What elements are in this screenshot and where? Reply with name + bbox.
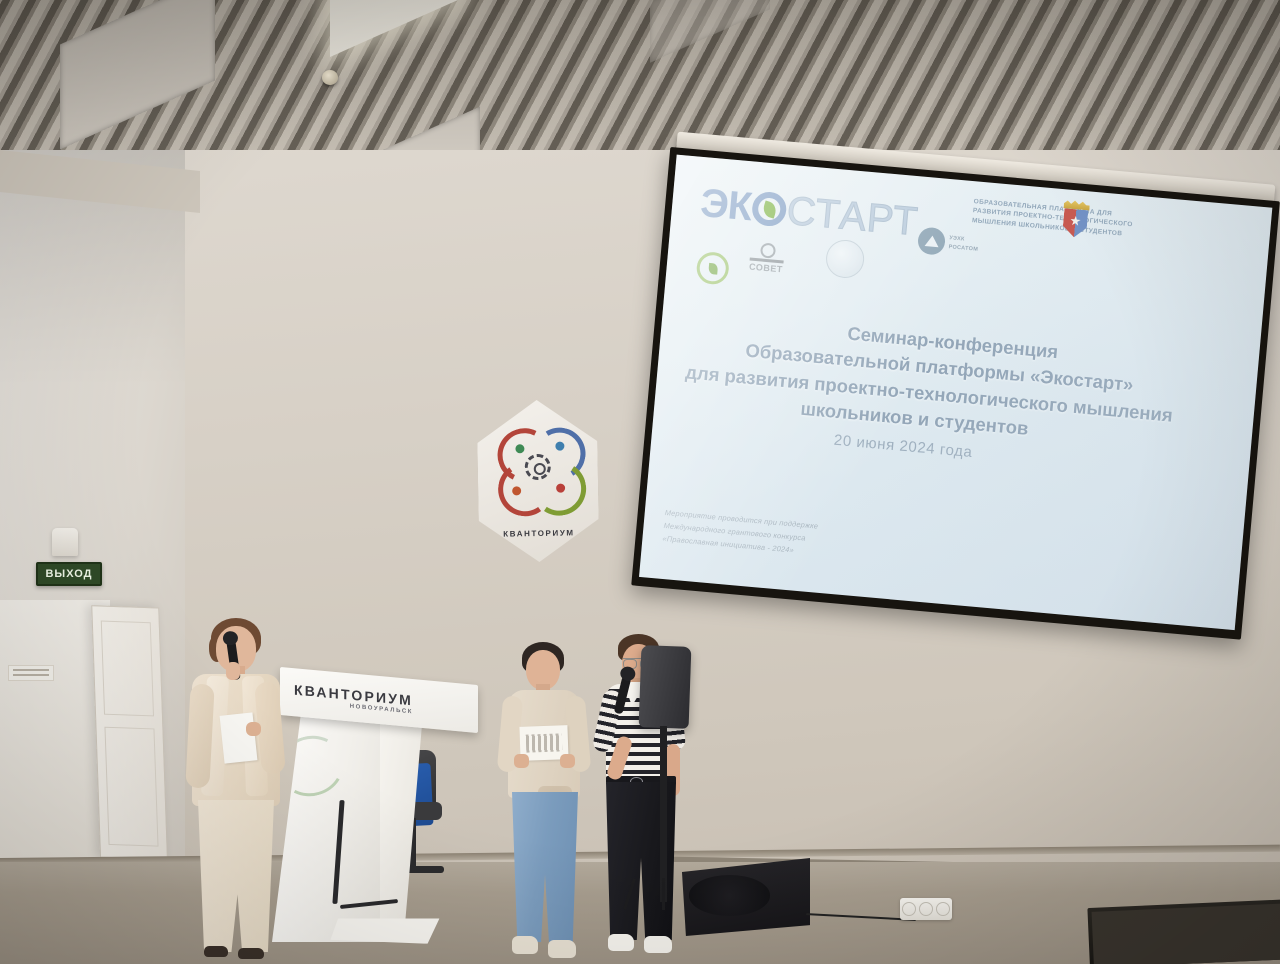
coat-of-arms-icon: ★ — [1059, 199, 1092, 240]
eco-ring-logo-icon — [695, 251, 730, 286]
ceiling-light-panel — [330, 0, 460, 57]
door[interactable] — [91, 605, 168, 860]
display-panel — [1087, 899, 1280, 964]
slide-footer: Мероприятие проводится при поддержке Меж… — [662, 507, 819, 559]
ekostart-logo: Э К СТАРТ — [699, 183, 920, 242]
screen-frame: Э К СТАРТ ОБРАЗОВАТЕЛЬНАЯ ПЛАТФОРМА ДЛЯ … — [631, 147, 1280, 640]
eko-wordmark: Э К — [699, 183, 789, 231]
sovet-logo-icon: СОВЕТ — [749, 242, 786, 275]
ceiling-panel — [650, 0, 770, 63]
smoke-detector-icon — [322, 70, 338, 85]
jeans — [512, 792, 578, 942]
eko-letter-e: Э — [699, 183, 730, 225]
kvantorium-emblem-icon — [495, 425, 580, 508]
kvantorium-sign-label: КВАНТОРИУМ — [479, 528, 599, 539]
projector-screen: Э К СТАРТ ОБРАЗОВАТЕЛЬНАЯ ПЛАТФОРМА ДЛЯ … — [616, 128, 1280, 682]
presentation-slide: Э К СТАРТ ОБРАЗОВАТЕЛЬНАЯ ПЛАТФОРМА ДЛЯ … — [639, 155, 1272, 630]
exit-sign-label: ВЫХОД — [45, 568, 92, 580]
pa-speaker — [639, 645, 692, 729]
wall-notice — [8, 665, 54, 681]
eko-letter-k: К — [726, 185, 753, 227]
globe-logo-icon — [824, 238, 865, 279]
lectern-side-fin — [380, 720, 422, 942]
start-wordmark: СТАРТ — [785, 191, 920, 243]
slide-date: 20 июня 2024 года — [833, 432, 973, 461]
exit-sign: ВЫХОД — [36, 562, 102, 586]
emergency-lamp — [52, 528, 78, 556]
partner-logo-row: СОВЕТ УЭХКРОСАТОМ — [696, 235, 1118, 318]
leaf-in-o-icon — [751, 191, 788, 228]
wall-socket[interactable] — [900, 898, 952, 920]
kvantorium-wall-sign: КВАНТОРИУМ — [477, 399, 600, 563]
ceiling-panel — [60, 0, 215, 150]
handheld-papers — [220, 712, 258, 763]
door-panel-upper — [101, 621, 154, 717]
presenter-middle — [498, 640, 593, 964]
conference-hall-photo: ВЫХОД КВАНТОРИУМ Э К — [0, 0, 1280, 964]
rosatom-logo-icon: УЭХКРОСАТОМ — [917, 226, 980, 258]
door-panel-lower — [104, 727, 158, 847]
presenter-left — [174, 618, 294, 963]
legs — [198, 800, 274, 952]
slide-title: Семинар-конференция Образовательной плат… — [670, 305, 1257, 461]
sovet-logo-label: СОВЕТ — [749, 261, 784, 274]
